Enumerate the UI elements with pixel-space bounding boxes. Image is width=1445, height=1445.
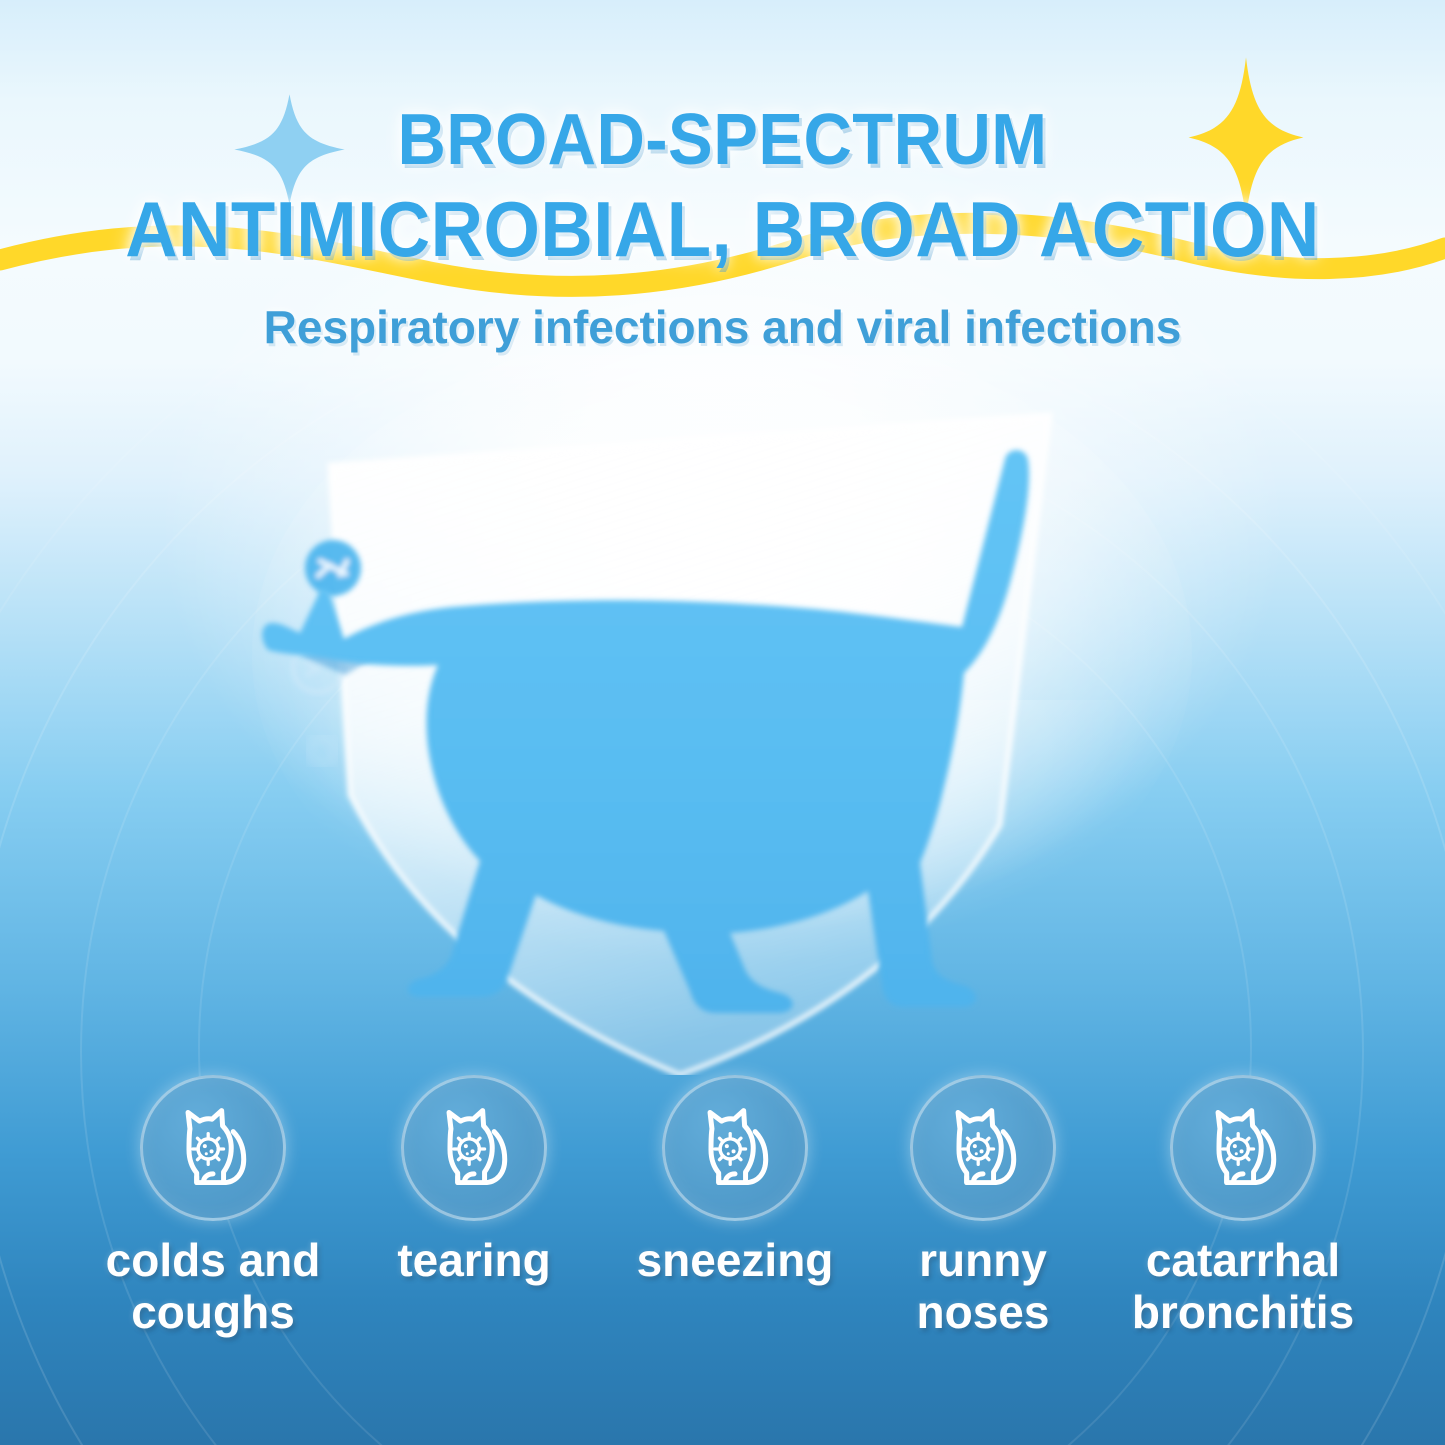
symptom-badge: runny noses — [910, 1075, 1056, 1221]
cat-virus-icon — [1195, 1100, 1291, 1196]
symptom-badge: sneezing — [662, 1075, 808, 1221]
symptom-label: catarrhal bronchitis — [1078, 1235, 1408, 1338]
cat-virus-icon — [426, 1100, 522, 1196]
symptom-badge: tearing — [401, 1075, 547, 1221]
hero-illustration — [0, 355, 1445, 1075]
poster-title-line-1: BROAD-SPECTRUM — [51, 104, 1395, 176]
poster-header: BROAD-SPECTRUM ANTIMICROBIAL, BROAD ACTI… — [0, 0, 1445, 380]
symptom-badge-row: colds and coughs — [0, 1075, 1445, 1445]
product-feature-poster: BROAD-SPECTRUM ANTIMICROBIAL, BROAD ACTI… — [0, 0, 1445, 1445]
symptom-badge: colds and coughs — [140, 1075, 286, 1221]
poster-title-line-2: ANTIMICROBIAL, BROAD ACTION — [51, 190, 1395, 268]
poster-subtitle: Respiratory infections and viral infecti… — [0, 300, 1445, 354]
germ-icon — [305, 540, 361, 596]
cat-virus-icon — [165, 1100, 261, 1196]
symptom-badge: catarrhal bronchitis — [1170, 1075, 1316, 1221]
cat-virus-icon — [935, 1100, 1031, 1196]
cat-virus-icon — [687, 1100, 783, 1196]
